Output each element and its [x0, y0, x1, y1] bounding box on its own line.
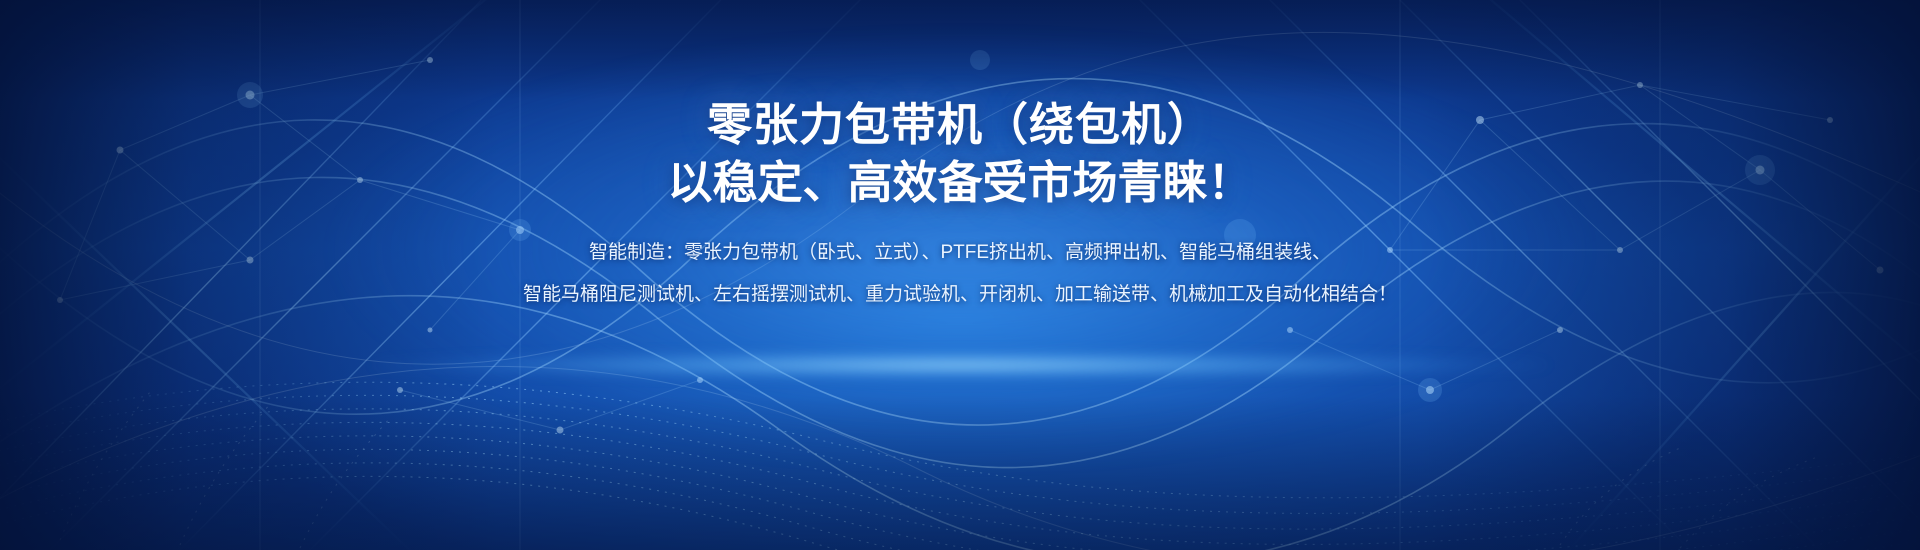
banner-content: 零张力包带机（绕包机） 以稳定、高效备受市场青睐！ 智能制造：零张力包带机（卧式…: [0, 0, 1920, 550]
headline-line-2: 以稳定、高效备受市场青睐！: [667, 154, 1252, 212]
subtitle-line-1: 智能制造：零张力包带机（卧式、立式）、PTFE挤出机、高频押出机、智能马桶组装线…: [523, 232, 1397, 274]
subtitle-block: 智能制造：零张力包带机（卧式、立式）、PTFE挤出机、高频押出机、智能马桶组装线…: [523, 232, 1397, 316]
hero-banner: 零张力包带机（绕包机） 以稳定、高效备受市场青睐！ 智能制造：零张力包带机（卧式…: [0, 0, 1920, 550]
headline-line-1: 零张力包带机（绕包机）: [707, 96, 1213, 154]
subtitle-line-2: 智能马桶阻尼测试机、左右摇摆测试机、重力试验机、开闭机、加工输送带、机械加工及自…: [523, 274, 1397, 316]
